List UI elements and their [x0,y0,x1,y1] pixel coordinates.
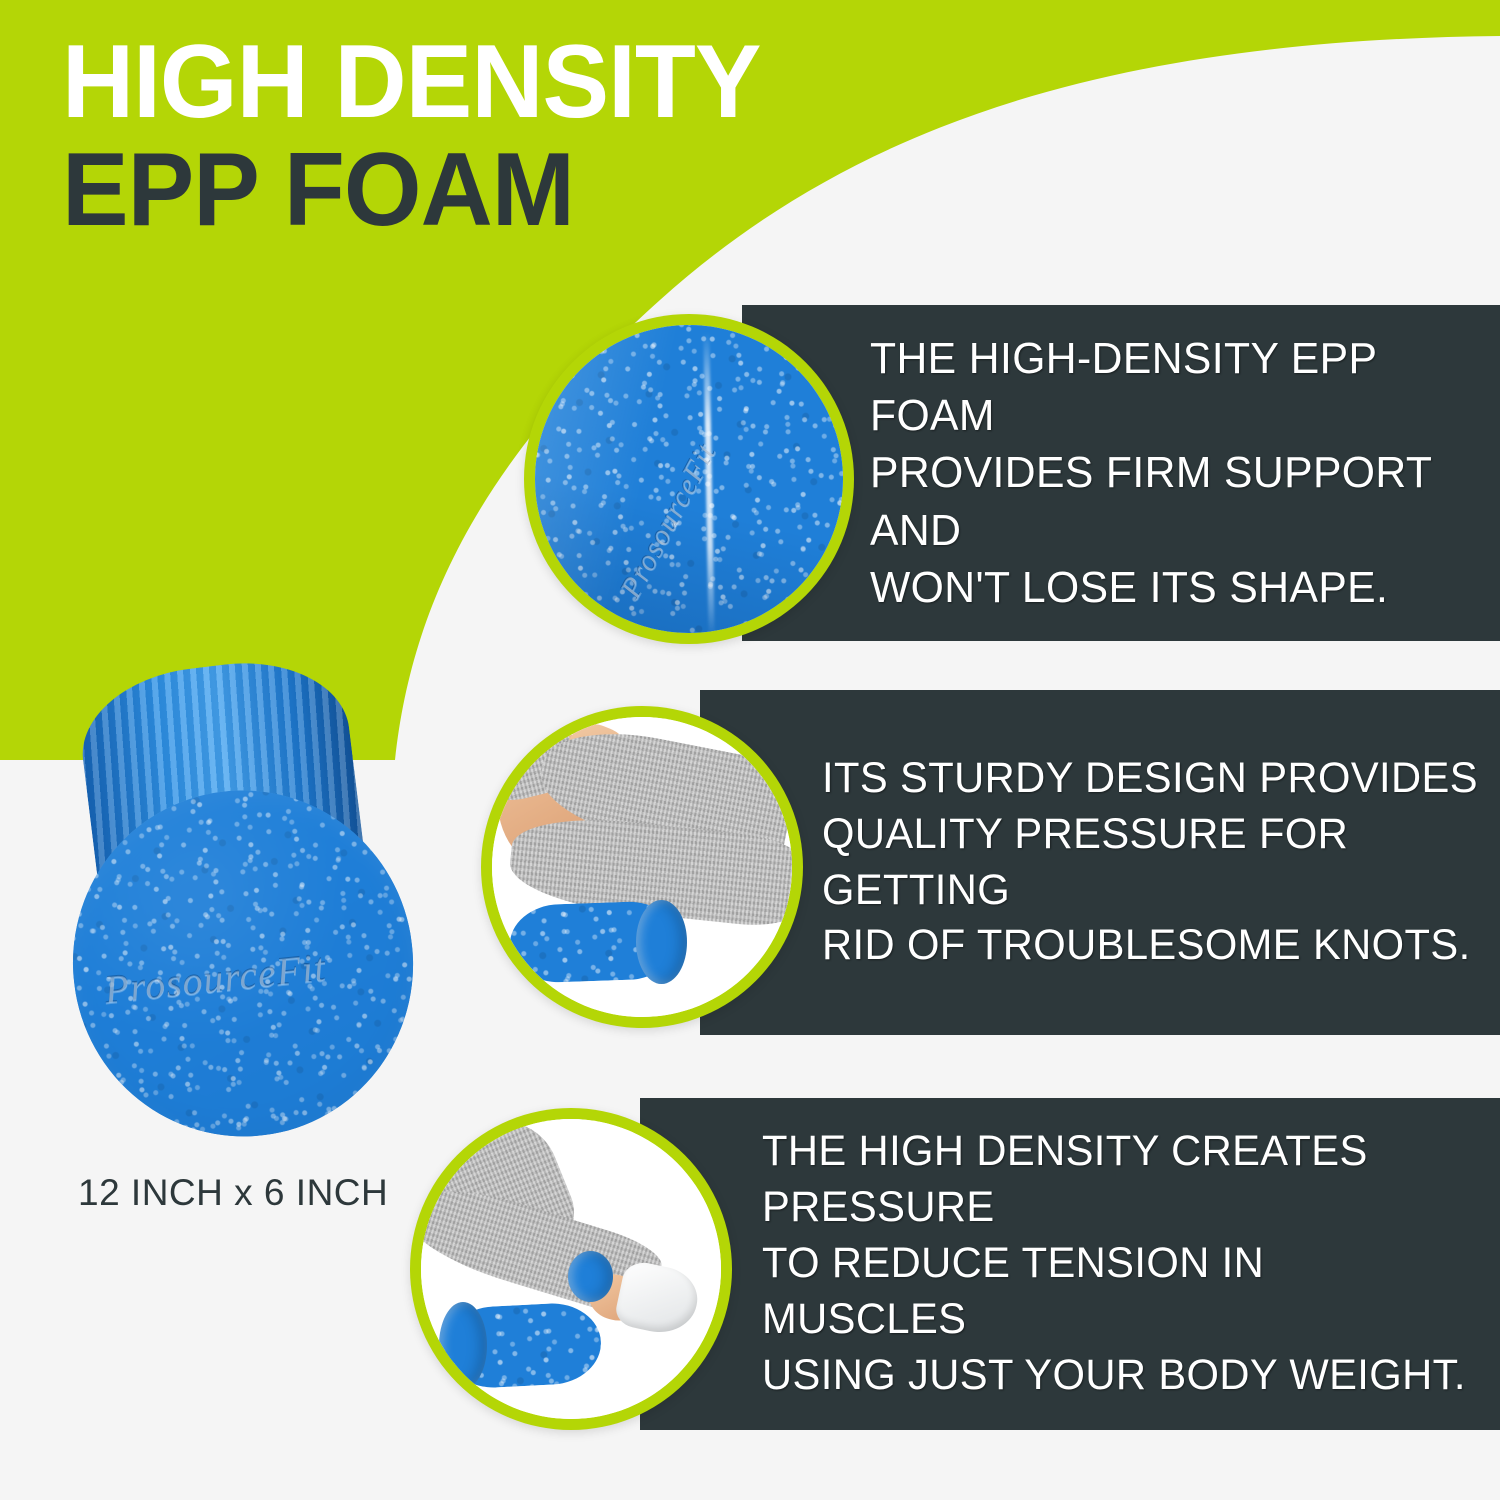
feature-text-2: ITS STURDY DESIGN PROVIDES QUALITY PRESS… [822,751,1480,975]
glute-rolling-photo [492,717,792,1017]
page-title: HIGH DENSITY EPP FOAM [62,32,790,242]
calf-rolling-photo [421,1119,721,1419]
foam-roller-cap [439,1302,487,1389]
foam-roller-product [38,646,430,1134]
title-line-primary: HIGH DENSITY [62,32,761,134]
shoe [613,1259,703,1340]
feature-image-2[interactable] [481,706,803,1028]
product-size-caption: 12 INCH x 6 INCH [78,1172,388,1214]
feature-band-1: THE HIGH-DENSITY EPP FOAM PROVIDES FIRM … [742,305,1500,641]
product-hero-image: ProsourceFit [44,655,464,1135]
feature-text-3: THE HIGH DENSITY CREATES PRESSURE TO RED… [762,1124,1478,1403]
feature-band-2: ITS STURDY DESIGN PROVIDES QUALITY PRESS… [700,690,1500,1035]
foam-sheen [535,325,843,633]
title-line-secondary: EPP FOAM [62,140,761,242]
feature-image-3-inner [421,1119,721,1419]
feature-image-2-inner [492,717,792,1017]
feature-image-1[interactable]: ProsourceFit [524,314,854,644]
feature-band-3: THE HIGH DENSITY CREATES PRESSURE TO RED… [640,1098,1500,1430]
feature-text-1: THE HIGH-DENSITY EPP FOAM PROVIDES FIRM … [870,330,1481,616]
foam-roller-cap [636,900,687,984]
feature-image-1-inner: ProsourceFit [535,325,843,633]
foam-roller-far-end [568,1251,613,1302]
foam-closeup-photo [535,325,843,633]
infographic-page: HIGH DENSITY EPP FOAM THE HIGH-DENSITY E… [0,0,1500,1500]
feature-image-3[interactable] [410,1108,732,1430]
